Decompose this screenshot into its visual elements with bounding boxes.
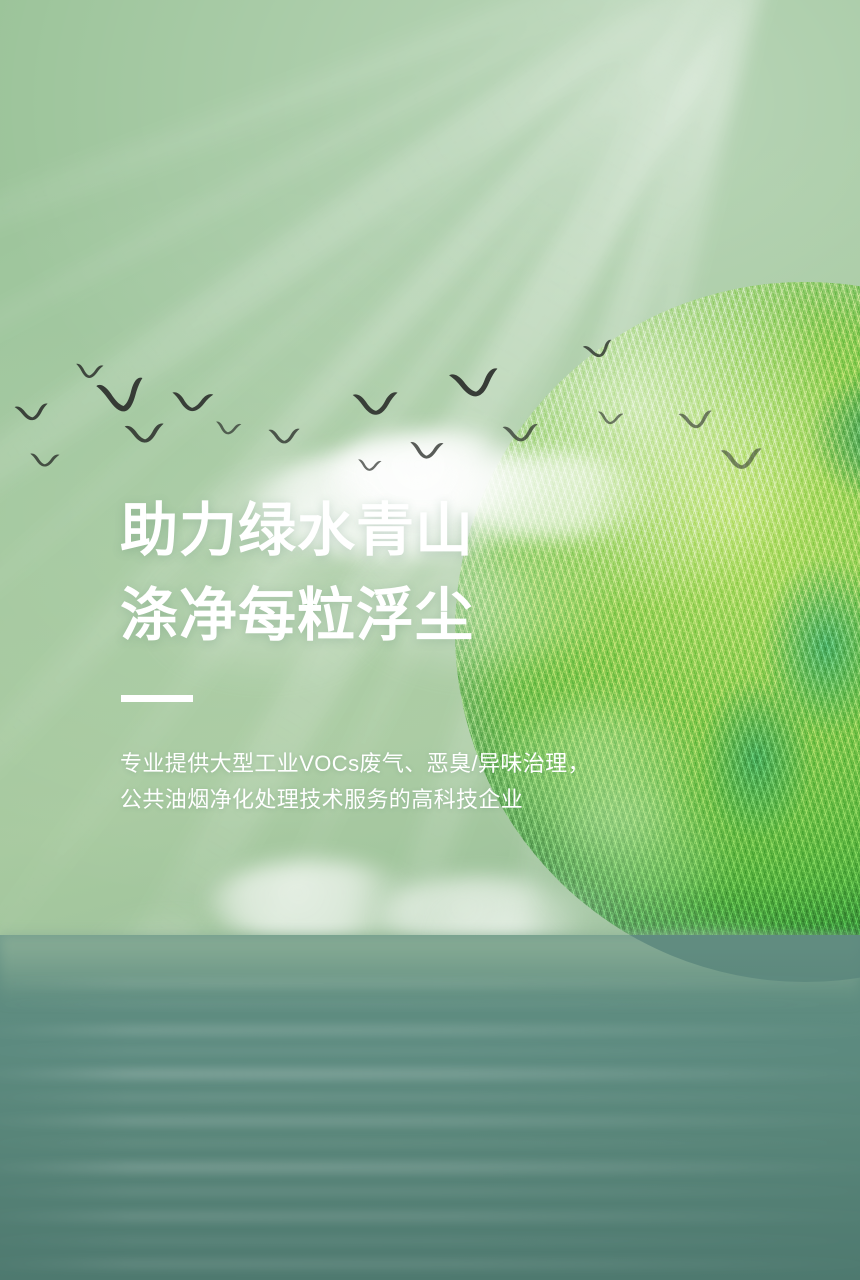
hero-banner: 助力绿水青山 涤净每粒浮尘 专业提供大型工业VOCs废气、恶臭/异味治理， 公共… [0, 0, 860, 1280]
headline-line-1: 助力绿水青山 [120, 488, 680, 573]
headline-line-2: 涤净每粒浮尘 [120, 573, 680, 658]
water-horizon-fade [0, 935, 860, 1005]
subtitle-line-2: 公共油烟净化处理技术服务的高科技企业 [120, 782, 680, 818]
subtitle-line-1: 专业提供大型工业VOCs废气、恶臭/异味治理， [120, 746, 680, 782]
hero-copy: 助力绿水青山 涤净每粒浮尘 专业提供大型工业VOCs废气、恶臭/异味治理， 公共… [120, 488, 680, 818]
headline-divider [121, 695, 193, 702]
